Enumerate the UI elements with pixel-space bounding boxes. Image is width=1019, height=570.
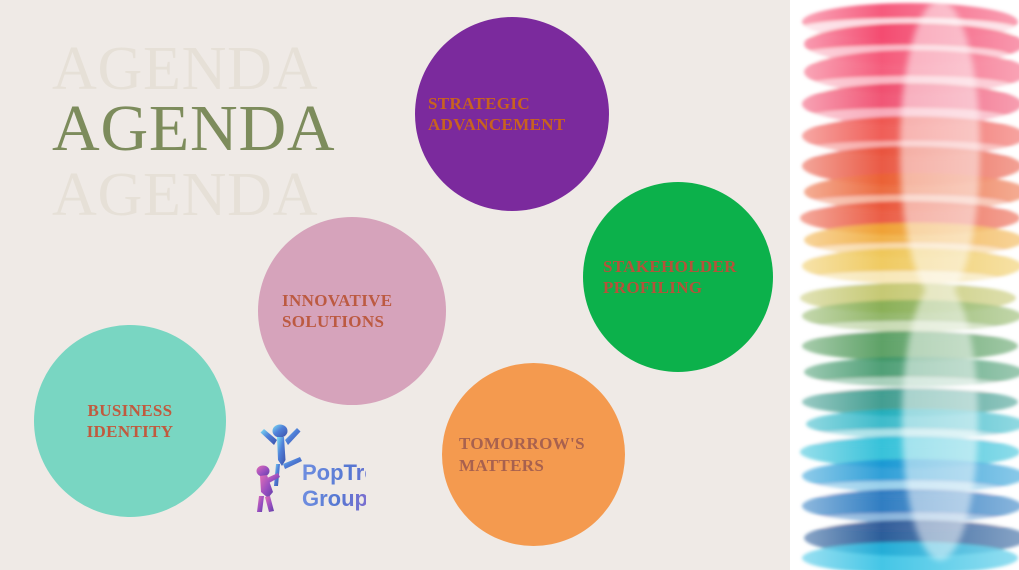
agenda-item-innovative-line1: INNOVATIVE — [282, 291, 392, 310]
logo-word-poptree: PopTree — [302, 460, 366, 485]
agenda-item-innovative[interactable]: INNOVATIVE SOLUTIONS — [258, 217, 446, 405]
page-title: AGENDA AGENDA AGENDA — [52, 38, 472, 238]
agenda-item-strategic-line2: ADVANCEMENT — [428, 115, 566, 134]
agenda-item-tomorrow-label: TOMORROW'S MATTERS — [459, 433, 615, 476]
agenda-item-innovative-line2: SOLUTIONS — [282, 312, 384, 331]
agenda-item-innovative-label: INNOVATIVE SOLUTIONS — [282, 290, 434, 333]
agenda-item-stakeholder-line1: STAKEHOLDER — [603, 257, 737, 276]
page-title-ghost-top: AGENDA — [52, 38, 318, 100]
page-title-main: AGENDA — [52, 96, 335, 162]
agenda-item-tomorrow[interactable]: TOMORROW'S MATTERS — [442, 363, 625, 546]
logo-word-group: Group — [302, 486, 366, 511]
agenda-item-stakeholder[interactable]: STAKEHOLDER PROFILING — [583, 182, 773, 372]
agenda-item-business-line1: BUSINESS — [88, 401, 173, 420]
agenda-item-stakeholder-line2: PROFILING — [603, 278, 702, 297]
agenda-item-tomorrow-line2: MATTERS — [459, 456, 544, 475]
agenda-item-strategic-label: STRATEGIC ADVANCEMENT — [428, 93, 599, 136]
poptree-group-logo: PopTree Group — [244, 418, 366, 518]
agenda-item-tomorrow-line1: TOMORROW'S — [459, 434, 585, 453]
page-title-ghost-bottom: AGENDA — [52, 164, 318, 226]
agenda-item-strategic[interactable]: STRATEGIC ADVANCEMENT — [415, 17, 609, 211]
agenda-item-business-label: BUSINESS IDENTITY — [42, 400, 218, 443]
agenda-slide: AGENDA AGENDA AGENDA STRATEGIC ADVANCEME… — [0, 0, 1019, 570]
agenda-item-strategic-line1: STRATEGIC — [428, 94, 530, 113]
agenda-item-business-line2: IDENTITY — [87, 422, 174, 441]
logo-wordmark: PopTree Group — [302, 460, 366, 511]
agenda-item-business[interactable]: BUSINESS IDENTITY — [34, 325, 226, 517]
agenda-item-stakeholder-label: STAKEHOLDER PROFILING — [603, 256, 765, 299]
stacked-rainbow-paper-photo — [790, 0, 1019, 570]
